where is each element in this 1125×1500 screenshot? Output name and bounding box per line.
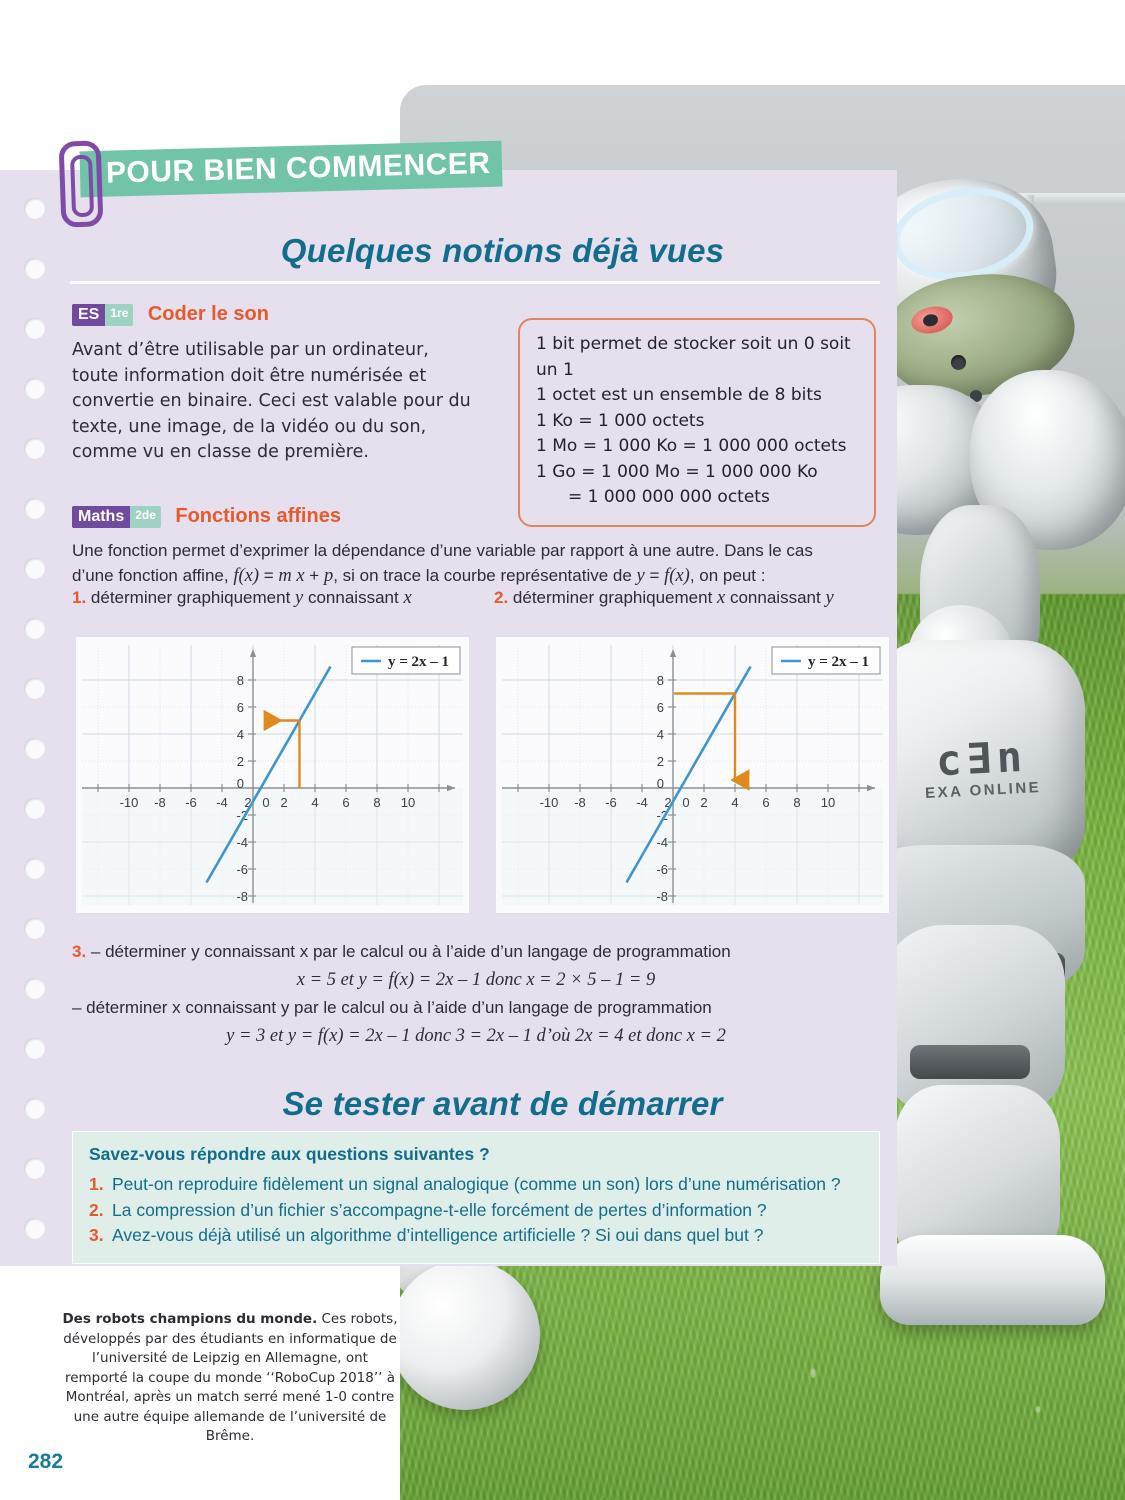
badge-subject-label: Maths [72,506,130,528]
t: f(x) [664,566,690,586]
step-3-formula-1: x = 5 et y = f(x) = 2x – 1 donc x = 2 × … [72,966,880,994]
binder-hole [24,618,45,639]
t: x [403,588,411,608]
svg-text:-6: -6 [185,795,197,810]
svg-text:0: 0 [682,795,689,810]
svg-text:0: 0 [237,776,244,791]
svg-text:-10: -10 [540,795,559,810]
t: p [324,566,333,586]
svg-text:-4: -4 [656,835,668,850]
units-line: 1 bit permet de stocker soit un 0 soit u… [536,332,858,383]
badge-level-label: 1re [105,304,133,326]
binder-hole [24,978,45,999]
maths-step-2: 2. déterminer graphiquement x connaissan… [494,588,834,609]
svg-text:2: 2 [700,795,707,810]
binder-hole [24,1158,45,1179]
question-number: 3. [89,1223,105,1249]
binder-hole [24,198,45,219]
maths-steps: 1. déterminer graphiquement y connaissan… [72,588,880,609]
photo-caption: Des robots champions du monde. Ces robot… [60,1310,400,1447]
svg-text:-8: -8 [236,889,248,904]
binder-hole [24,738,45,759]
svg-text:6: 6 [657,700,664,715]
y-axis-arrow-icon [670,649,676,657]
maths-step-1: 1. déterminer graphiquement y connaissan… [72,588,494,609]
t: – déterminer y connaissant x par le calc… [86,942,731,961]
chart-determine-x: 86 42 0 -2-4 -6-8 -10-8 -6-4 2 02 46 810 [495,636,890,914]
t: déterminer graphiquement [508,588,717,607]
chart-svg: 86 42 0 -2-4 -6-8 -10-8 -6-4 2 02 46 810 [496,637,889,913]
page-title: Quelques notions déjà vues [0,232,1065,270]
binder-hole [24,318,45,339]
page-number: 282 [28,1450,63,1474]
question-text: La compression d’un fichier s’accompagne… [112,1198,767,1224]
step-number: 1. [72,588,86,607]
svg-text:10: 10 [401,795,415,810]
t: y [637,566,645,586]
chart-annotation-arrow [674,694,735,781]
maths-section: Maths 2de Fonctions affines Une fonction… [72,505,880,589]
self-test-question-list: 1.Peut-on reproduire fidèlement un signa… [89,1172,863,1249]
svg-text:8: 8 [373,795,380,810]
binder-hole [24,378,45,399]
legend-label: y = 2x – 1 [808,654,869,670]
svg-text:6: 6 [237,700,244,715]
caption-text: Ces robots, développés par des étudiants… [63,1311,397,1444]
units-line: 1 octet est un ensemble de 8 bits [536,383,858,409]
binder-hole [24,798,45,819]
t: , on peut : [690,566,766,585]
es-body-text: Avant d’être utilisable par un ordinateu… [72,338,472,466]
svg-text:2: 2 [657,754,664,769]
chart-determine-y: 86 42 0 -2-4 -6-8 -10-8 -6-4 2 02 46 810 [75,636,470,914]
units-line: 1 Ko = 1 000 octets [536,409,858,435]
list-item: 1.Peut-on reproduire fidèlement un signa… [89,1172,863,1198]
t: = [259,566,278,585]
list-item: 2.La compression d’un fichier s’accompag… [89,1198,863,1224]
es-section: ES 1re Coder le son Avant d’être utilisa… [72,303,472,466]
y-axis-arrow-icon [250,649,256,657]
svg-text:0: 0 [262,795,269,810]
svg-text:-4: -4 [636,795,648,810]
svg-text:6: 6 [342,795,349,810]
question-number: 2. [89,1198,105,1224]
step-3-line-1: 3. – déterminer y connaissant x par le c… [72,938,880,966]
badge-subject-label: ES [72,304,105,326]
svg-text:4: 4 [237,727,244,742]
step-3-formula-2: y = 3 et y = f(x) = 2x – 1 donc 3 = 2x –… [72,1022,880,1050]
binder-hole [24,918,45,939]
svg-text:-10: -10 [120,795,139,810]
svg-text:-8: -8 [656,889,668,904]
units-line: 1 Go = 1 000 Mo = 1 000 000 Ko [536,460,858,486]
svg-text:6: 6 [762,795,769,810]
svg-text:2: 2 [237,754,244,769]
svg-text:8: 8 [237,673,244,688]
binder-hole [24,438,45,459]
step-number: 3. [72,942,86,961]
svg-text:8: 8 [657,673,664,688]
t: , si on trace la courbe représentative d… [333,566,636,585]
svg-text:10: 10 [821,795,835,810]
svg-text:4: 4 [731,795,738,810]
binder-hole [24,858,45,879]
svg-text:-4: -4 [216,795,228,810]
step-number: 2. [494,588,508,607]
divider [70,281,880,284]
t: d’une fonction affine, [72,566,233,585]
badge-maths: Maths 2de [72,506,161,528]
t: connaissant [303,588,403,607]
t: + [305,566,324,585]
binder-hole [24,1038,45,1059]
t: déterminer graphiquement [86,588,295,607]
svg-text:-4: -4 [236,835,248,850]
binder-hole [24,558,45,579]
chart-legend: y = 2x – 1 [352,647,460,674]
banner-label: POUR BIEN COMMENCER [106,147,491,191]
paperclip-icon [59,140,104,227]
svg-text:-6: -6 [605,795,617,810]
svg-text:0: 0 [657,776,664,791]
svg-text:-6: -6 [236,862,248,877]
step-3-line-2: – déterminer x connaissant y par le calc… [72,994,880,1022]
binder-hole [24,1218,45,1239]
badge-es: ES 1re [72,304,133,326]
maths-body-text: Une fonction permet d’exprimer la dépend… [72,538,880,589]
chart-svg: 86 42 0 -2-4 -6-8 -10-8 -6-4 2 02 46 810 [76,637,469,913]
robot-knee-joint [910,1045,1030,1079]
svg-text:2: 2 [280,795,287,810]
self-test-lead: Savez-vous répondre aux questions suivan… [89,1144,863,1165]
robot-sensor-port [951,355,966,370]
svg-text:-8: -8 [154,795,166,810]
es-title: Coder le son [148,303,269,325]
maths-body-line-2: d’une fonction affine, f(x) = m x + p, s… [72,563,880,589]
t: f(x) [233,566,259,586]
step-3-section: 3. – déterminer y connaissant x par le c… [72,938,880,1050]
list-item: 3.Avez-vous déjà utilisé un algorithme d… [89,1223,863,1249]
t: m x [278,566,304,586]
legend-label: y = 2x – 1 [388,654,449,670]
robot-logo-mark: c∃n [935,735,1028,782]
t: connaissant [725,588,825,607]
binder-hole [24,498,45,519]
section-title-se-tester: Se tester avant de démarrer [0,1085,1065,1123]
t: y [825,588,833,608]
maths-body-line-1: Une fonction permet d’exprimer la dépend… [72,538,880,563]
units-callout-box: 1 bit permet de stocker soit un 0 soit u… [518,318,876,527]
question-text: Peut-on reproduire fidèlement un signal … [112,1172,841,1198]
robot-foot [880,1235,1105,1325]
question-text: Avez-vous déjà utilisé un algorithme d’i… [112,1223,763,1249]
svg-text:4: 4 [311,795,318,810]
maths-title: Fonctions affines [175,505,341,527]
svg-text:-6: -6 [656,862,668,877]
question-number: 1. [89,1172,105,1198]
units-line: 1 Mo = 1 000 Ko = 1 000 000 octets [536,434,858,460]
self-test-box: Savez-vous répondre aux questions suivan… [72,1131,880,1264]
badge-level-label: 2de [130,506,161,528]
chart-legend: y = 2x – 1 [772,647,880,674]
svg-text:4: 4 [657,727,664,742]
svg-text:-8: -8 [574,795,586,810]
robot-chest-logo: c∃n EXA ONLINE [885,720,1079,816]
svg-text:8: 8 [793,795,800,810]
t: = [645,566,664,585]
caption-bold-lead: Des robots champions du monde. [62,1311,317,1327]
binder-hole [24,678,45,699]
